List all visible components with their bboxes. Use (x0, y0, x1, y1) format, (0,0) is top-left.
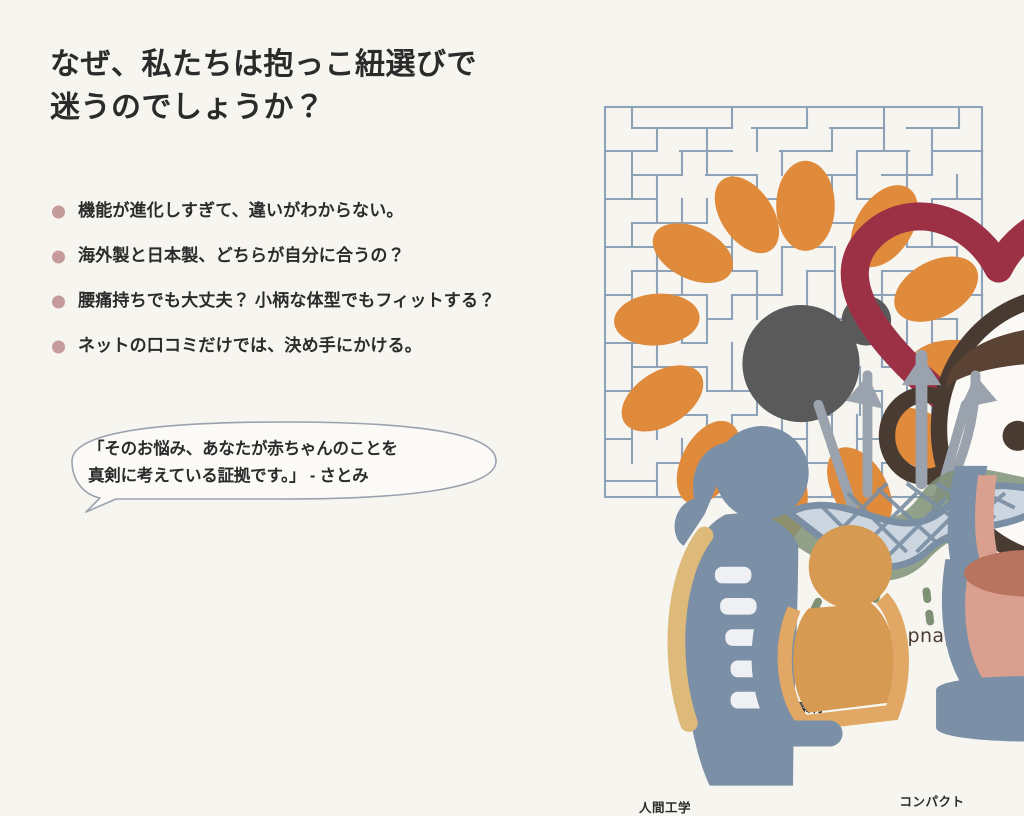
list-item-label: 機能が進化しすぎて、違いがわからない。 (78, 201, 404, 221)
maze-graphic: ergobaby™ BABYBJÖRN napnap (602, 104, 985, 500)
feature-label-ergonomics: 人間工学 (612, 797, 718, 816)
quote-text: 「そのお悩み、あなたが赤ちゃんのことを 真剣に考えている証拠です。」 - さとみ (88, 436, 498, 489)
list-item-label: 腰痛持ちでも大丈夫？ 小柄な体型でもフィットする？ (78, 291, 495, 311)
pain-point-list: 機能が進化しすぎて、違いがわからない。 海外製と日本製、どちらが自分に合うの？ … (46, 189, 586, 369)
slide-root: なぜ、私たちは抱っこ紐選びで 迷うのでしょうか？ 機能が進化しすぎて、違いがわか… (0, 0, 1024, 547)
list-item: 機能が進化しすぎて、違いがわからない。 (46, 189, 586, 234)
list-item: 海外製と日本製、どちらが自分に合うの？ (46, 234, 586, 279)
bullet-dot-icon (52, 250, 65, 263)
feature-ergonomics: 人間工学 (612, 400, 718, 816)
left-content-column: なぜ、私たちは抱っこ紐選びで 迷うのでしょうか？ 機能が進化しすぎて、違いがわか… (0, 0, 590, 547)
quote-speech-bubble: 「そのお悩み、あなたが赤ちゃんのことを 真剣に考えている証拠です。」 - さとみ (56, 419, 511, 504)
baby-carrier-icon (880, 394, 1024, 790)
feature-label-compact: コンパクト (880, 791, 984, 810)
list-item-label: ネットの口コミだけでは、決め手にかける。 (78, 336, 422, 356)
list-item: ネットの口コミだけでは、決め手にかける。 (46, 324, 586, 369)
list-item: 腰痛持ちでも大丈夫？ 小柄な体型でもフィットする？ (46, 279, 586, 324)
bullet-dot-icon (52, 295, 65, 308)
list-item-label: 海外製と日本製、どちらが自分に合うの？ (78, 246, 405, 266)
page-title: なぜ、私たちは抱っこ紐選びで 迷うのでしょうか？ (50, 44, 570, 129)
bullet-dot-icon (52, 340, 65, 353)
feature-compact: コンパクト (880, 394, 984, 810)
bullet-dot-icon (52, 205, 65, 218)
